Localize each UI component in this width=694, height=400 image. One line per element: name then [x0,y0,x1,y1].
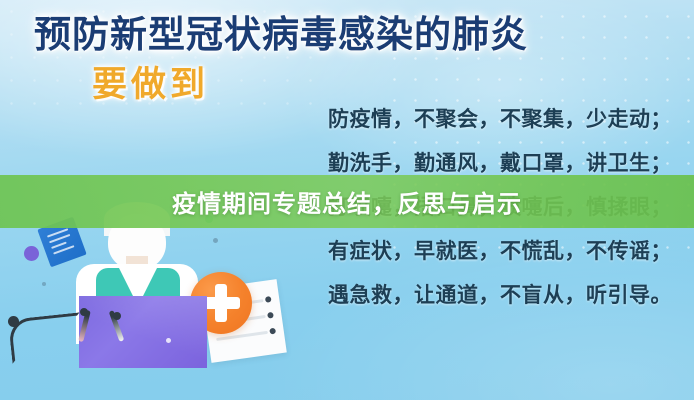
decorative-dot [42,282,46,286]
document-bullet [267,312,274,319]
poster-headline: 预防新型冠状病毒感染的肺炎 [34,4,528,58]
stethoscope-tube [8,312,84,363]
slogan-line-5: 遇急救，让通道，不盲从，听引导。 [328,274,694,318]
slogan-line-1: 防疫情，不聚会，不聚集，少走动； [328,98,694,142]
decorative-dot-white [166,338,171,343]
stethoscope-joint [80,308,88,316]
overlay-banner: 疫情期间专题总结，反思与启示 [0,175,694,228]
document-bullet [269,328,276,335]
poster-image: 预防新型冠状病毒感染的肺炎 要做到 防疫情，不聚会，不聚集，少走动； 勤洗手，勤… [0,0,694,400]
document-bullet [265,296,272,303]
decorative-dot-purple [24,246,39,261]
stethoscope-chestpiece [8,316,19,327]
stethoscope-joint [113,312,121,320]
cross-bar-vertical [215,284,227,322]
slogan-line-4: 有症状，早就医，不慌乱，不传谣； [328,230,694,274]
medical-illustration [0,220,330,400]
banner-title: 疫情期间专题总结，反思与启示 [172,184,522,219]
decorative-dot [213,238,218,243]
poster-subheadline: 要做到 [92,56,209,107]
